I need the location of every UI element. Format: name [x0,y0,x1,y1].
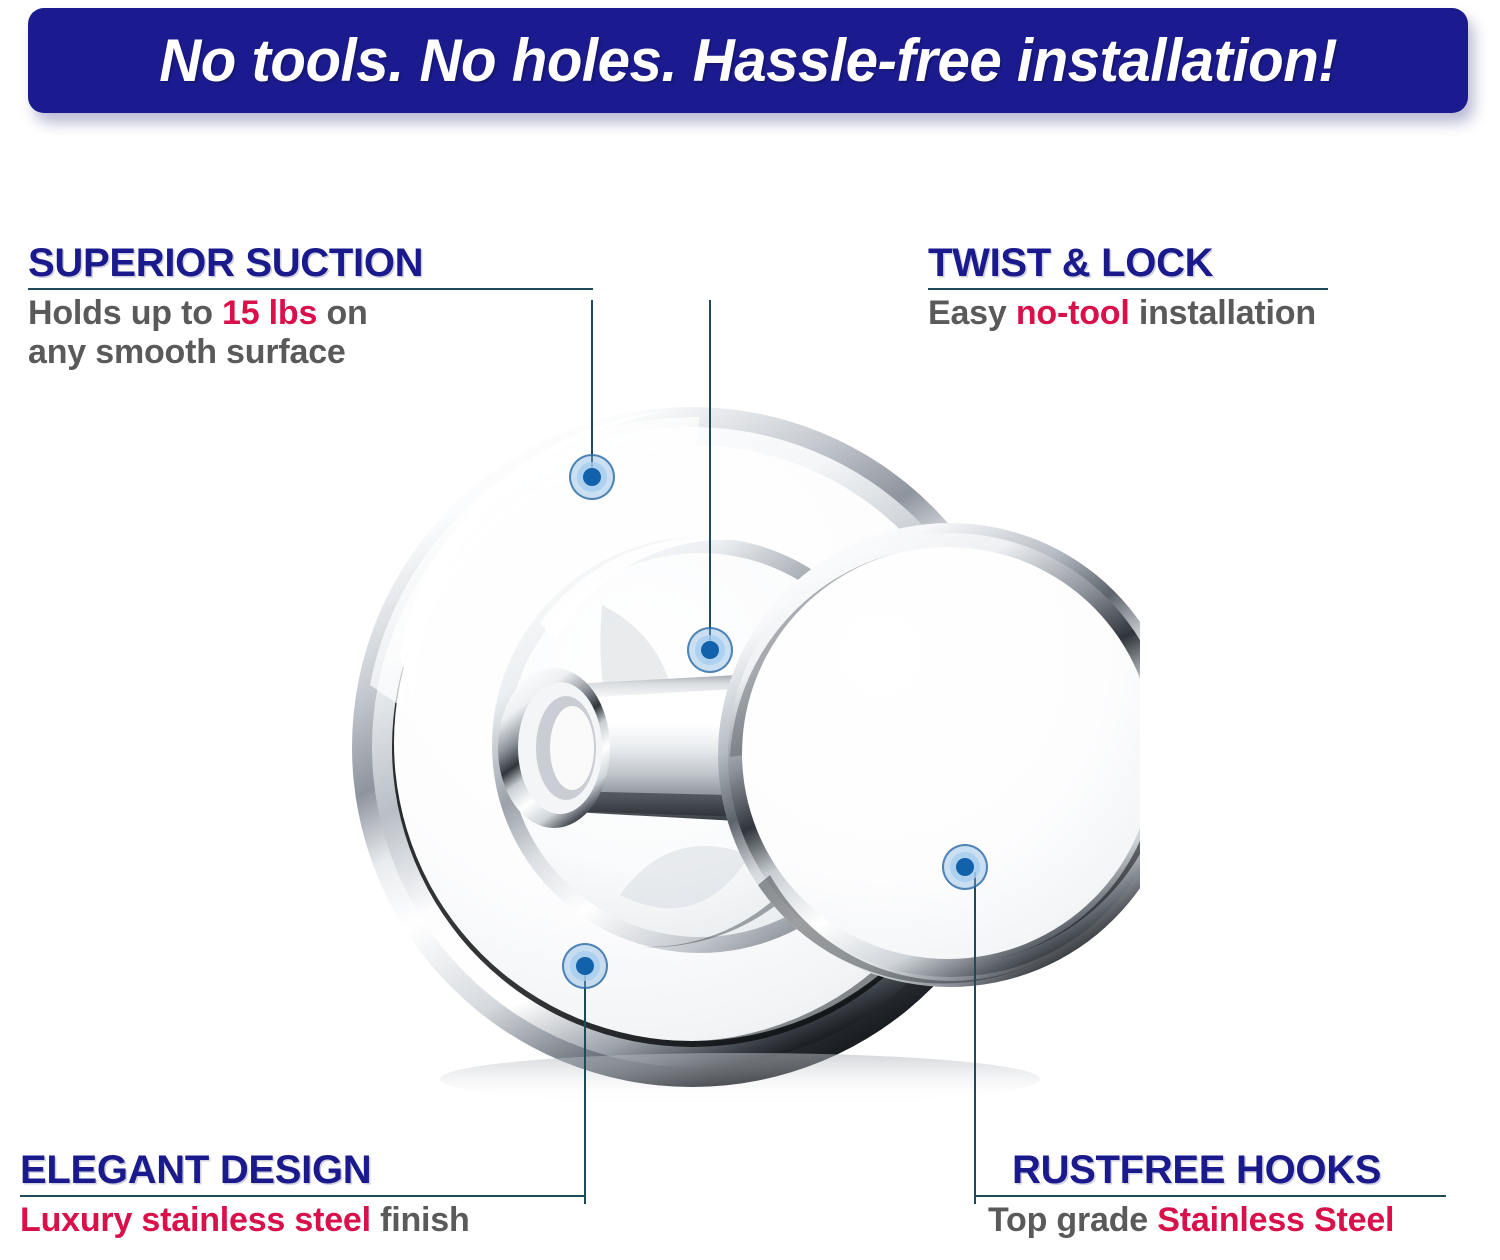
subtitle-text-before: Easy [928,294,1016,332]
callout-rustfree-hooks: RUSTFREE HOOKS Top grade Stainless Steel [1012,1150,1446,1240]
callout-subtitle-twist-lock: Easy no-tool installation [928,294,1328,333]
callout-rule-rustfree-hooks [976,1195,1446,1197]
callout-subtitle-superior-suction: Holds up to 15 lbs on any smooth surface [28,294,508,373]
callout-rule-superior-suction [28,288,593,290]
marker-twist-lock [687,627,733,673]
marker-core-dot [701,641,719,659]
callout-subtitle-rustfree-hooks: Top grade Stainless Steel [988,1201,1446,1240]
subtitle-highlight: Luxury stainless steel [20,1201,371,1239]
subtitle-text-after: installation [1130,294,1316,332]
marker-core-dot [576,957,594,975]
subtitle-highlight: no-tool [1016,294,1130,332]
subtitle-text-line2: any smooth surface [28,333,346,371]
product-infographic: No tools. No holes. Hassle-free installa… [0,0,1500,1260]
subtitle-text-before: Holds up to [28,294,222,332]
callout-twist-lock: TWIST & LOCK Easy no-tool installation [928,243,1328,333]
subtitle-text-after: finish [371,1201,470,1239]
product-image-chrome-suction-hook [340,355,1140,1145]
marker-superior-suction [569,454,615,500]
callout-rule-twist-lock [928,288,1328,290]
subtitle-highlight: 15 lbs [222,294,317,332]
callout-title-elegant-design: ELEGANT DESIGN [20,1150,585,1192]
callout-title-twist-lock: TWIST & LOCK [928,243,1328,285]
callout-title-superior-suction: SUPERIOR SUCTION [28,243,593,285]
banner-headline: No tools. No holes. Hassle-free installa… [159,26,1337,95]
callout-elegant-design: ELEGANT DESIGN Luxury stainless steel fi… [20,1150,585,1240]
marker-elegant-design [562,943,608,989]
subtitle-text-after: on [317,294,367,332]
marker-core-dot [583,468,601,486]
callout-subtitle-elegant-design: Luxury stainless steel finish [20,1201,585,1240]
header-banner: No tools. No holes. Hassle-free installa… [28,8,1468,113]
subtitle-text-before: Top grade [988,1201,1157,1239]
leader-line-twist-lock [709,300,711,652]
subtitle-highlight: Stainless Steel [1157,1201,1394,1239]
callout-rule-elegant-design [20,1195,585,1197]
callout-title-rustfree-hooks: RUSTFREE HOOKS [1012,1150,1446,1192]
marker-rustfree-hooks [942,844,988,890]
leader-line-rustfree-hooks [974,872,976,1204]
marker-core-dot [956,858,974,876]
callout-superior-suction: SUPERIOR SUCTION Holds up to 15 lbs on a… [28,243,593,372]
